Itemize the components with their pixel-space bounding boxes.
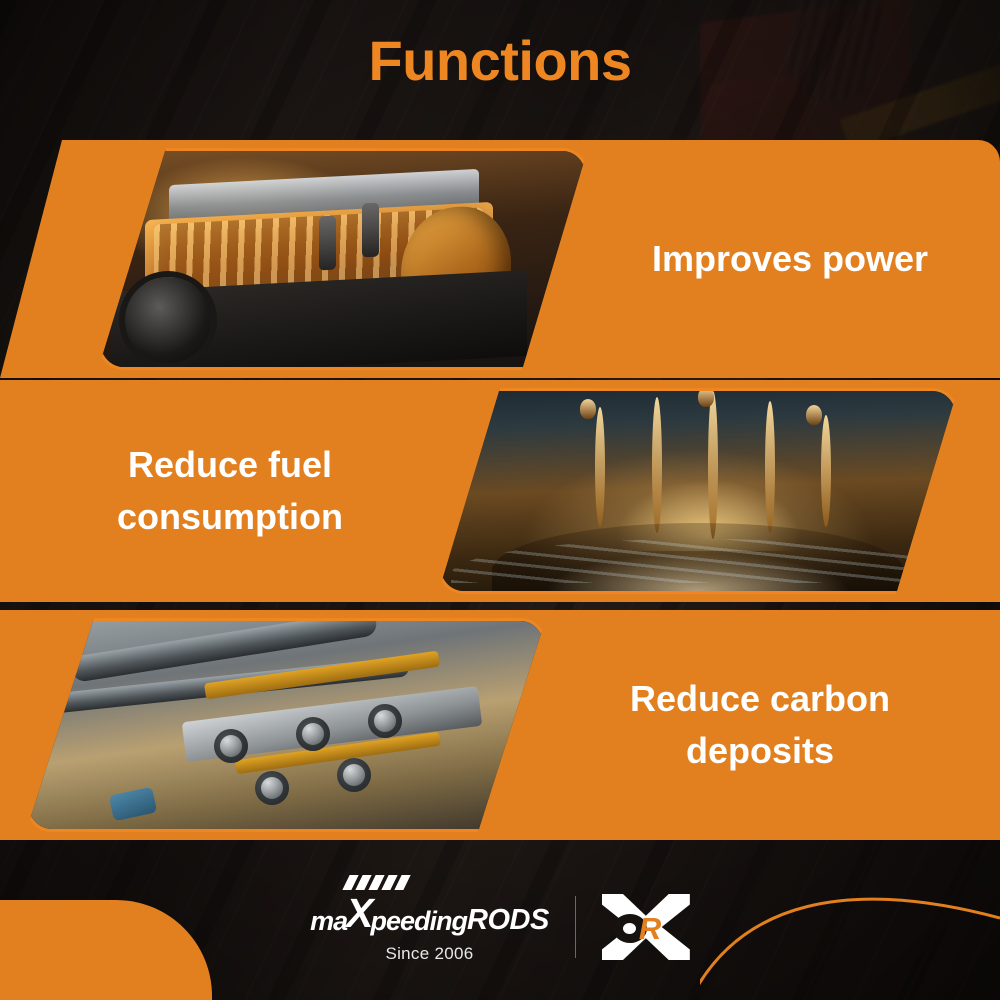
feature-image-improves-power (98, 148, 588, 370)
head-blue-cap (109, 786, 157, 821)
oil-strand (765, 401, 775, 533)
head-bolt (337, 758, 371, 792)
feature-label-improves-power: Improves power (600, 140, 980, 378)
cylinder-head-photo (29, 621, 543, 829)
maxpeedingrods-logo[interactable]: ma X peeding RODS Since 2006 (310, 890, 549, 964)
oil-strand (652, 397, 662, 533)
oil-droplet (698, 388, 714, 407)
logo-tagline: Since 2006 (385, 944, 473, 964)
feature-band-reduce-carbon-deposits: Reduce carbon deposits (0, 610, 1000, 840)
feature-image-reduce-carbon-deposits (26, 618, 546, 832)
feature-band-improves-power: Improves power (0, 140, 1000, 378)
engine-cutaway-photo (101, 151, 585, 367)
feature-label-reduce-fuel-consumption: Reduce fuel consumption (40, 380, 420, 602)
page-title: Functions (0, 28, 1000, 93)
oil-droplet (806, 405, 822, 425)
engine-pulley (125, 277, 211, 363)
head-bolt (214, 729, 248, 763)
racing-stripes-icon (342, 875, 441, 890)
footer-brand-bar: ma X peeding RODS Since 2006 R (0, 888, 1000, 966)
footer: ma X peeding RODS Since 2006 R (0, 840, 1000, 1000)
feature-image-reduce-fuel-consumption (438, 388, 958, 594)
head-bolt (255, 771, 289, 805)
logo-text-peeding: peeding (371, 906, 468, 937)
logo-text-x: X (346, 890, 371, 937)
or-monogram: R (613, 913, 679, 943)
x-badge-logo[interactable]: R (602, 894, 690, 960)
feature-band-reduce-fuel-consumption: Reduce fuel consumption (0, 380, 1000, 602)
logo-wordmark: ma X peeding RODS (310, 890, 549, 937)
engine-coil-plug-secondary (362, 202, 379, 257)
footer-divider (575, 896, 576, 958)
logo-text-rods: RODS (467, 904, 549, 937)
engine-coil-plug (319, 215, 336, 270)
logo-text-ma: ma (310, 906, 347, 937)
oil-splash-photo (441, 391, 955, 591)
feature-label-reduce-carbon-deposits: Reduce carbon deposits (560, 610, 960, 840)
monogram-r-letter: R (639, 913, 661, 944)
oil-droplet (580, 399, 596, 419)
head-bolt (296, 717, 330, 751)
